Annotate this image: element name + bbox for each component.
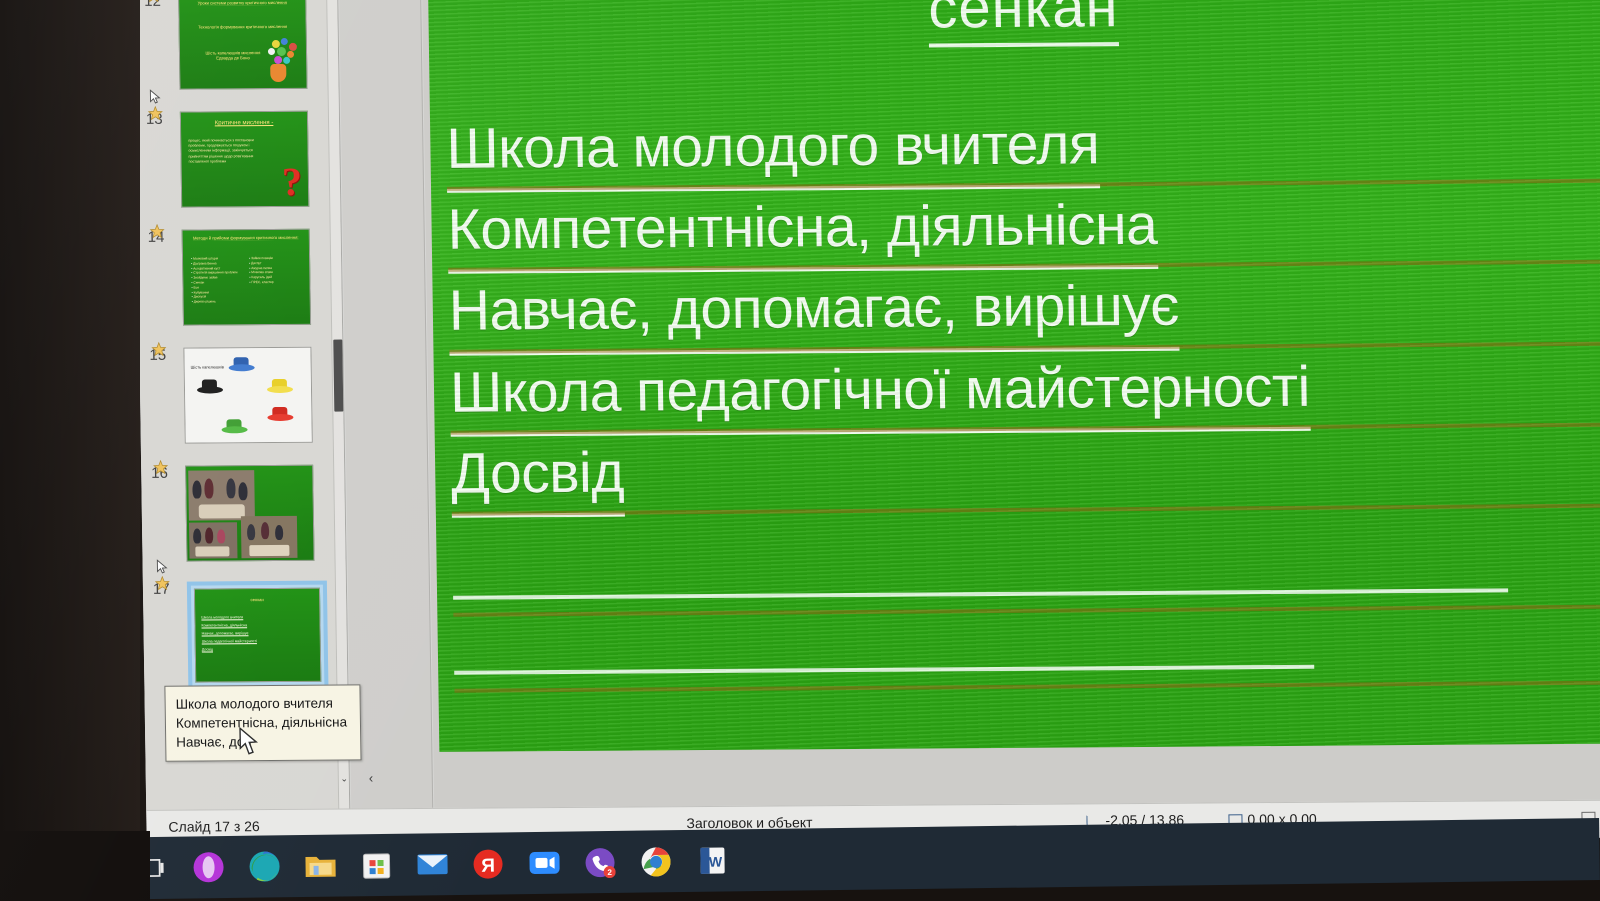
animation-star-icon[interactable] bbox=[150, 224, 165, 239]
body-line-7-empty[interactable] bbox=[453, 611, 1600, 694]
mini-title: Критичне мислення - bbox=[191, 120, 297, 128]
opera-icon bbox=[192, 851, 224, 883]
balloons-decoration bbox=[256, 38, 303, 84]
scroll-down-icon[interactable]: ⌄ bbox=[339, 770, 350, 786]
slide-thumbnail-12[interactable]: 12 Уроки системи розвитку критичного мис… bbox=[134, 0, 339, 94]
slide-title-text: сенкан bbox=[928, 0, 1119, 47]
slide-preview-tooltip: Школа молодого вчителя Компетентнісна, д… bbox=[164, 684, 361, 762]
body-line-2[interactable]: Компетентнісна, діяльнісна bbox=[447, 185, 1600, 274]
selected-slide-highlight[interactable]: сенкан Школа молодого вчителя Компетентн… bbox=[187, 581, 329, 690]
mini-slide: сенкан Школа молодого вчителя Компетентн… bbox=[195, 589, 320, 682]
thumbnail-badges bbox=[148, 89, 163, 121]
mini-line-1: Школа молодого вчителя bbox=[201, 615, 243, 620]
collapse-panel-icon[interactable]: ‹ bbox=[369, 770, 374, 785]
animation-star-icon[interactable] bbox=[155, 576, 170, 591]
animation-star-icon[interactable] bbox=[153, 460, 168, 475]
mini-title: Методи й прийоми формування критичного м… bbox=[193, 235, 299, 241]
mini-line-4: Школа педагогічної майстерності bbox=[202, 639, 257, 645]
body-line-text: Школа педагогічної майстерності bbox=[450, 349, 1311, 436]
thumbnail-gutter: 17 bbox=[147, 582, 187, 597]
viber-icon: 2 bbox=[584, 846, 615, 877]
mouse-cursor-icon bbox=[237, 727, 259, 757]
animation-star-icon[interactable] bbox=[151, 342, 166, 357]
app-edge-button[interactable] bbox=[247, 850, 280, 883]
slide-thumbnail-14[interactable]: 14 Методи й прийоми формування критичног… bbox=[138, 223, 343, 330]
monitor-bezel-left bbox=[0, 0, 140, 901]
slide-editing-stage[interactable]: сенкан Школа молодого вчителя Компетентн… bbox=[422, 0, 1600, 808]
thumbnail-image[interactable]: сенкан Школа молодого вчителя Компетентн… bbox=[194, 588, 321, 683]
monitor-bezel-bottom bbox=[0, 831, 150, 901]
word-button[interactable]: W bbox=[695, 844, 728, 877]
tooltip-line-2: Компетентнісна, діяльнісна bbox=[176, 713, 352, 733]
mini-body: процес, який починається з постановки пр… bbox=[188, 138, 262, 165]
slide-counter[interactable]: Слайд 17 з 26 bbox=[168, 818, 260, 835]
mini-slide: Критичне мислення - процес, який починає… bbox=[181, 112, 308, 207]
thumbnail-gutter: 16 bbox=[145, 466, 185, 481]
edge-icon bbox=[248, 850, 280, 882]
body-line-5[interactable]: Досвід bbox=[451, 429, 1600, 518]
mini-title: Уроки системи розвитку критичного мислен… bbox=[189, 0, 295, 6]
thumbnail-badges bbox=[153, 460, 168, 475]
thumbnail-image[interactable]: Критичне мислення - процес, який починає… bbox=[180, 111, 309, 208]
word-icon: W bbox=[698, 845, 726, 875]
viber-badge-count: 2 bbox=[607, 867, 612, 876]
slide-thumbnail-16[interactable]: 16 bbox=[141, 459, 346, 566]
body-line-text bbox=[454, 623, 1315, 675]
mini-slide: Уроки системи розвитку критичного мислен… bbox=[179, 0, 306, 89]
mail-icon bbox=[416, 852, 448, 876]
body-line-1[interactable]: Школа молодого вчителя bbox=[446, 104, 1600, 193]
slide-body-placeholder[interactable]: Школа молодого вчителя Компетентнісна, д… bbox=[446, 104, 1600, 695]
animation-star-icon[interactable] bbox=[146, 0, 161, 3]
mini-subtitle: Технологія формування критичного мисленн… bbox=[190, 24, 296, 30]
svg-text:Я: Я bbox=[481, 855, 495, 876]
click-cursor-icon bbox=[148, 89, 163, 105]
mini-slide: Методи й прийоми формування критичного м… bbox=[183, 230, 310, 325]
zoom-button[interactable] bbox=[527, 846, 560, 879]
mail-button[interactable] bbox=[415, 848, 448, 881]
body-line-6-empty[interactable] bbox=[452, 536, 1600, 619]
thumbnail-gutter: 13 bbox=[140, 112, 180, 127]
microsoft-store-button[interactable] bbox=[359, 848, 392, 881]
mini-slide: Шість капелюшків bbox=[184, 348, 311, 443]
body-line-text bbox=[452, 547, 1508, 600]
thumbnail-gutter: 15 bbox=[143, 348, 183, 363]
body-line-text: Компетентнісна, діяльнісна bbox=[447, 188, 1158, 274]
thumbnail-image[interactable]: Методи й прийоми формування критичного м… bbox=[182, 229, 311, 326]
current-slide[interactable]: сенкан Школа молодого вчителя Компетентн… bbox=[428, 0, 1600, 752]
body-line-3[interactable]: Навчає, допомагає, вирішує bbox=[448, 266, 1600, 355]
scrollbar-thumb[interactable] bbox=[333, 340, 343, 412]
app-opera-button[interactable] bbox=[191, 851, 224, 884]
chrome-button[interactable] bbox=[639, 845, 672, 878]
yandex-icon: Я bbox=[472, 848, 503, 879]
bullet: ПРЕС, кластер bbox=[249, 280, 303, 285]
slide-thumbnail-15[interactable]: 15 Шість капелюшків bbox=[139, 341, 344, 448]
chrome-icon bbox=[640, 846, 671, 877]
powerpoint-window: 12 Уроки системи розвитку критичного мис… bbox=[134, 0, 1600, 848]
mini-bullets-left: Мозковий штурм Діаграма Венна Асоціативн… bbox=[191, 256, 244, 304]
file-explorer-button[interactable] bbox=[303, 849, 336, 882]
thumbnail-gutter: 14 bbox=[142, 230, 182, 245]
photo-thumbnail bbox=[188, 470, 255, 520]
viber-button[interactable]: 2 bbox=[583, 845, 616, 878]
folder-icon bbox=[304, 852, 336, 880]
question-mark-decoration: ? bbox=[282, 162, 303, 202]
mini-title: Шість капелюшків bbox=[191, 364, 224, 369]
thumbnail-badges bbox=[146, 0, 161, 3]
body-line-text: Навчає, допомагає, вирішує bbox=[448, 269, 1179, 355]
mini-title: сенкан bbox=[205, 597, 309, 603]
tooltip-line-1: Школа молодого вчителя bbox=[176, 693, 352, 713]
body-line-text: Школа молодого вчителя bbox=[446, 107, 1100, 193]
thumbnail-image[interactable]: Уроки системи розвитку критичного мислен… bbox=[178, 0, 307, 90]
click-cursor-icon bbox=[155, 559, 170, 575]
animation-star-icon[interactable] bbox=[148, 106, 163, 121]
mini-line-5: Досвід bbox=[202, 647, 213, 652]
yandex-browser-button[interactable]: Я bbox=[471, 847, 504, 880]
thumbnail-badges bbox=[151, 342, 166, 357]
thumbnail-badges bbox=[150, 224, 165, 239]
photo-thumbnail bbox=[241, 516, 298, 558]
mini-line-3: Навчає, допомагає, вирішує bbox=[202, 631, 249, 637]
slide-thumbnail-13[interactable]: 13 Критичне мислення - процес, який почи… bbox=[136, 105, 341, 212]
slide-thumbnail-17[interactable]: 17 сенкан Школа молодого вчителя Компете… bbox=[143, 575, 348, 694]
store-icon bbox=[361, 850, 391, 880]
mini-line-2: Компетентнісна, діяльнісна bbox=[201, 623, 247, 629]
photo-thumbnail bbox=[189, 522, 238, 558]
slide-title-placeholder[interactable]: сенкан bbox=[428, 0, 1600, 45]
thumbnail-badges bbox=[155, 559, 170, 591]
body-line-4[interactable]: Школа педагогічної майстерності bbox=[450, 347, 1600, 436]
svg-text:W: W bbox=[708, 854, 722, 870]
mini-bullets-right: Займи позицію Диспут Ажурна пилка Мозков… bbox=[249, 256, 303, 285]
thumbnail-gutter: 12 bbox=[138, 0, 178, 9]
tooltip-line-3: Навчає, доп bbox=[176, 732, 352, 752]
monitor-screen: 12 Уроки системи розвитку критичного мис… bbox=[134, 0, 1600, 848]
bullet: Дерево рішень bbox=[192, 299, 244, 304]
thumbnail-image[interactable] bbox=[185, 465, 314, 562]
body-line-text: Досвід bbox=[451, 436, 625, 518]
thumbnail-image[interactable]: Шість капелюшків bbox=[183, 347, 312, 444]
screen-photo: 12 Уроки системи розвитку критичного мис… bbox=[0, 0, 1600, 901]
video-camera-icon bbox=[528, 850, 560, 876]
mini-slide bbox=[186, 466, 313, 561]
